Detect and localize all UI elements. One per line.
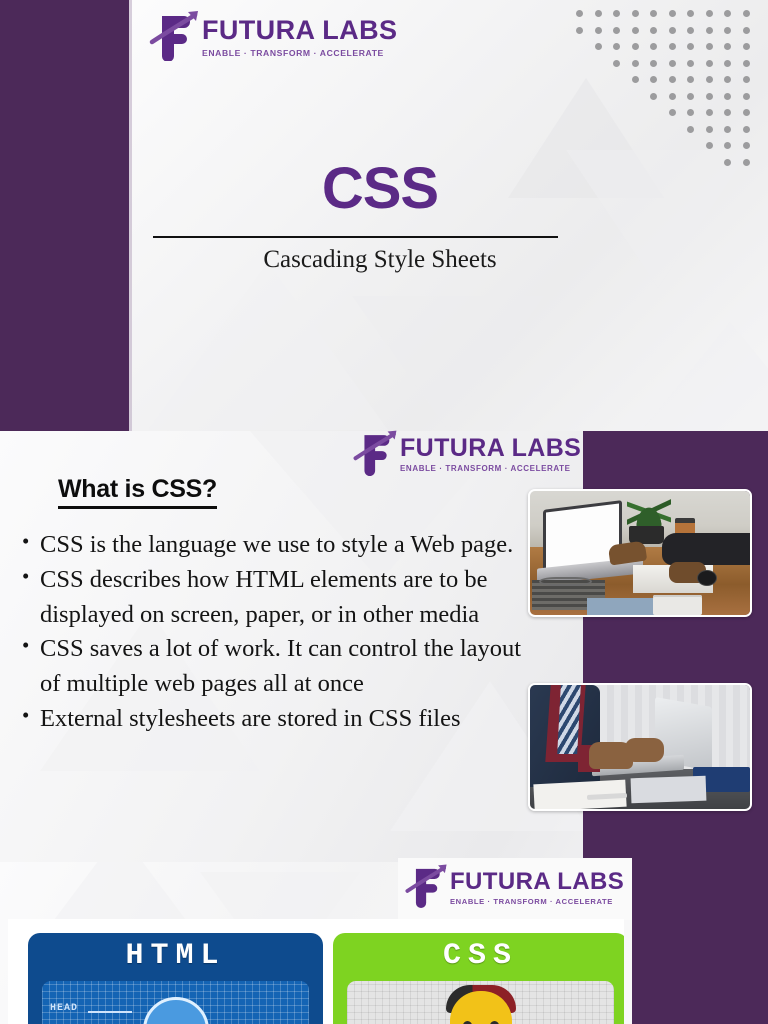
decor-dot <box>743 126 750 133</box>
decor-dot <box>669 43 676 50</box>
decor-dot <box>650 76 657 83</box>
html-card: HTML HEAD <box>28 933 323 1024</box>
photo-desk-laptop-coffee <box>528 489 752 617</box>
decor-dot <box>669 93 676 100</box>
decor-dot <box>743 10 750 17</box>
html-head-label: HEAD <box>50 1003 78 1014</box>
html-card-body: HEAD <box>42 981 309 1024</box>
decor-dot <box>706 43 713 50</box>
list-item: CSS describes how HTML elements are to b… <box>20 563 525 633</box>
futura-f-arrow-icon <box>404 862 450 913</box>
decor-dot <box>650 93 657 100</box>
title-text: CSS <box>150 160 610 218</box>
logo-text: FUTURA LABS ENABLE · TRANSFORM · ACCELER… <box>450 870 624 906</box>
logo-text: FUTURA LABS ENABLE · TRANSFORM · ACCELER… <box>400 436 581 473</box>
decor-dot <box>687 109 694 116</box>
decor-dot <box>687 27 694 34</box>
decor-dot <box>743 159 750 166</box>
decor-dot <box>632 43 639 50</box>
css-description-list: CSS is the language we use to style a We… <box>20 528 525 737</box>
slide-deck: FUTURA LABS ENABLE · TRANSFORM · ACCELER… <box>0 0 768 1024</box>
decor-dot <box>632 27 639 34</box>
section-heading: What is CSS? <box>58 475 217 509</box>
decor-dot <box>576 27 583 34</box>
css-card: CSS <box>333 933 624 1024</box>
decor-dot <box>743 27 750 34</box>
decor-dot <box>743 109 750 116</box>
decor-dot <box>687 126 694 133</box>
decor-dot <box>669 27 676 34</box>
decor-dot <box>724 27 731 34</box>
decor-dot <box>743 93 750 100</box>
logo-name: FUTURA LABS <box>202 17 397 44</box>
list-item: CSS is the language we use to style a We… <box>20 528 525 563</box>
decor-dot <box>613 43 620 50</box>
logo-name: FUTURA LABS <box>400 436 581 461</box>
decor-dot <box>724 10 731 17</box>
photo-content <box>530 491 750 615</box>
photo-businessman-laptop <box>528 683 752 811</box>
photo-content <box>530 685 750 809</box>
decor-dot <box>632 60 639 67</box>
logo-name: FUTURA LABS <box>450 870 624 894</box>
brand-logo-slide1: FUTURA LABS ENABLE · TRANSFORM · ACCELER… <box>148 9 397 66</box>
decor-triangle <box>640 322 768 431</box>
decor-dot <box>632 76 639 83</box>
logo: FUTURA LABS ENABLE · TRANSFORM · ACCELER… <box>148 9 397 66</box>
brand-logo-slide3: FUTURA LABS ENABLE · TRANSFORM · ACCELER… <box>404 862 624 913</box>
decor-dot <box>706 10 713 17</box>
title-divider <box>153 236 558 238</box>
decor-dot <box>650 60 657 67</box>
decor-dot <box>669 10 676 17</box>
decor-dot <box>724 76 731 83</box>
decor-dot <box>595 27 602 34</box>
decor-dot <box>669 76 676 83</box>
decor-dot <box>687 93 694 100</box>
decor-dot <box>650 27 657 34</box>
decor-dot <box>706 126 713 133</box>
page-title: CSS <box>150 160 610 218</box>
logo-tagline: ENABLE · TRANSFORM · ACCELERATE <box>450 898 624 906</box>
logo: FUTURA LABS ENABLE · TRANSFORM · ACCELER… <box>404 862 624 913</box>
decor-dot <box>706 76 713 83</box>
list-item: External stylesheets are stored in CSS f… <box>20 702 525 737</box>
decor-dot <box>724 126 731 133</box>
decor-dot <box>576 10 583 17</box>
logo-text: FUTURA LABS ENABLE · TRANSFORM · ACCELER… <box>202 17 397 58</box>
decor-dot <box>743 76 750 83</box>
futura-f-arrow-icon <box>352 428 400 481</box>
decor-dot <box>687 10 694 17</box>
list-item: CSS saves a lot of work. It can control … <box>20 632 525 702</box>
subtitle-text: Cascading Style Sheets <box>150 246 610 274</box>
decor-dot <box>743 60 750 67</box>
decor-dot <box>724 93 731 100</box>
logo-tagline: ENABLE · TRANSFORM · ACCELERATE <box>400 465 581 473</box>
decor-dot <box>687 60 694 67</box>
sidebar-accent-line <box>129 0 132 431</box>
decor-dot <box>613 60 620 67</box>
slide-title: FUTURA LABS ENABLE · TRANSFORM · ACCELER… <box>0 0 768 431</box>
html-vs-css-cards: HTML HEAD CSS <box>8 919 624 1024</box>
decor-dot <box>706 60 713 67</box>
decor-dot <box>687 43 694 50</box>
css-card-label: CSS <box>333 933 624 973</box>
decor-dot <box>724 60 731 67</box>
futura-f-arrow-icon <box>148 9 202 66</box>
decor-dot <box>613 10 620 17</box>
decor-dot <box>595 10 602 17</box>
html-mascot-face-icon <box>143 997 209 1024</box>
brand-logo-slide2: FUTURA LABS ENABLE · TRANSFORM · ACCELER… <box>352 428 581 481</box>
html-head-connector <box>88 1011 132 1013</box>
decor-dot <box>650 43 657 50</box>
decor-dot <box>669 60 676 67</box>
decor-dot <box>613 27 620 34</box>
decor-dot <box>724 43 731 50</box>
html-card-label: HTML <box>28 933 323 973</box>
decor-dot <box>669 109 676 116</box>
decor-dot <box>595 43 602 50</box>
title-slide-purple-sidebar <box>0 0 129 431</box>
decor-dot <box>743 142 750 149</box>
decor-dot <box>724 109 731 116</box>
decor-dot <box>706 27 713 34</box>
decor-dot <box>724 159 731 166</box>
decor-dot <box>706 93 713 100</box>
decor-dot-grid <box>576 10 758 182</box>
logo-tagline: ENABLE · TRANSFORM · ACCELERATE <box>202 49 397 58</box>
decor-dot <box>632 10 639 17</box>
decor-triangle <box>352 296 544 430</box>
decor-dot <box>650 10 657 17</box>
decor-dot <box>724 142 731 149</box>
decor-dot <box>706 109 713 116</box>
decor-dot <box>706 142 713 149</box>
logo: FUTURA LABS ENABLE · TRANSFORM · ACCELER… <box>352 428 581 481</box>
decor-dot <box>687 76 694 83</box>
css-card-body <box>347 981 614 1024</box>
decor-dot <box>743 43 750 50</box>
